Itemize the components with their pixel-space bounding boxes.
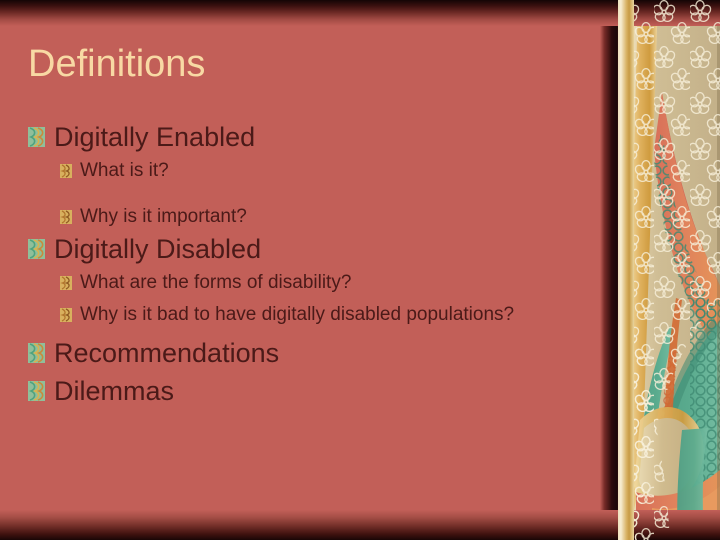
- ornament-bullet-icon: [60, 210, 72, 224]
- bullet-item-level2: Why is it bad to have digitally disabled…: [60, 302, 568, 330]
- ornament-bullet-icon: [28, 343, 45, 363]
- bullet-item-level1: Recommendations: [28, 336, 568, 374]
- slide-body: Digitally Enabled What is it? Why is: [28, 120, 568, 412]
- decorative-art-panel: [618, 0, 720, 540]
- bullet-text: Recommendations: [54, 336, 568, 370]
- bullet-text: What are the forms of disability?: [80, 270, 568, 296]
- presentation-slide: Definitions Digitally Enabled: [0, 0, 720, 540]
- bullet-item-level1: Dilemmas: [28, 374, 568, 412]
- bullet-item-level2: What are the forms of disability?: [60, 270, 568, 298]
- bullet-text: Dilemmas: [54, 374, 568, 408]
- decorative-border-panel: [600, 0, 720, 540]
- ornament-bullet-icon: [28, 127, 45, 147]
- bullet-item-level2: What is it?: [60, 158, 568, 186]
- bullet-text: Digitally Disabled: [54, 232, 568, 266]
- bullet-item-level1: Digitally Enabled: [28, 120, 568, 158]
- bottom-vignette: [0, 510, 720, 540]
- ornament-bullet-icon: [28, 239, 45, 259]
- ornament-bullet-icon: [60, 308, 72, 322]
- bullet-text: Digitally Enabled: [54, 120, 568, 154]
- bullet-item-level1: Digitally Disabled: [28, 232, 568, 270]
- top-vignette: [0, 0, 720, 26]
- bullet-text: Why is it important?: [80, 204, 568, 230]
- decorative-shadow-gradient: [600, 0, 620, 540]
- bullet-text: What is it?: [80, 158, 568, 184]
- slide-title: Definitions: [28, 42, 205, 86]
- ornament-bullet-icon: [60, 276, 72, 290]
- bullet-item-level2: Why is it important?: [60, 204, 568, 232]
- ornament-bullet-icon: [28, 381, 45, 401]
- bullet-text: Why is it bad to have digitally disabled…: [80, 302, 568, 328]
- decorative-gold-strip: [618, 0, 634, 540]
- ornament-bullet-icon: [60, 164, 72, 178]
